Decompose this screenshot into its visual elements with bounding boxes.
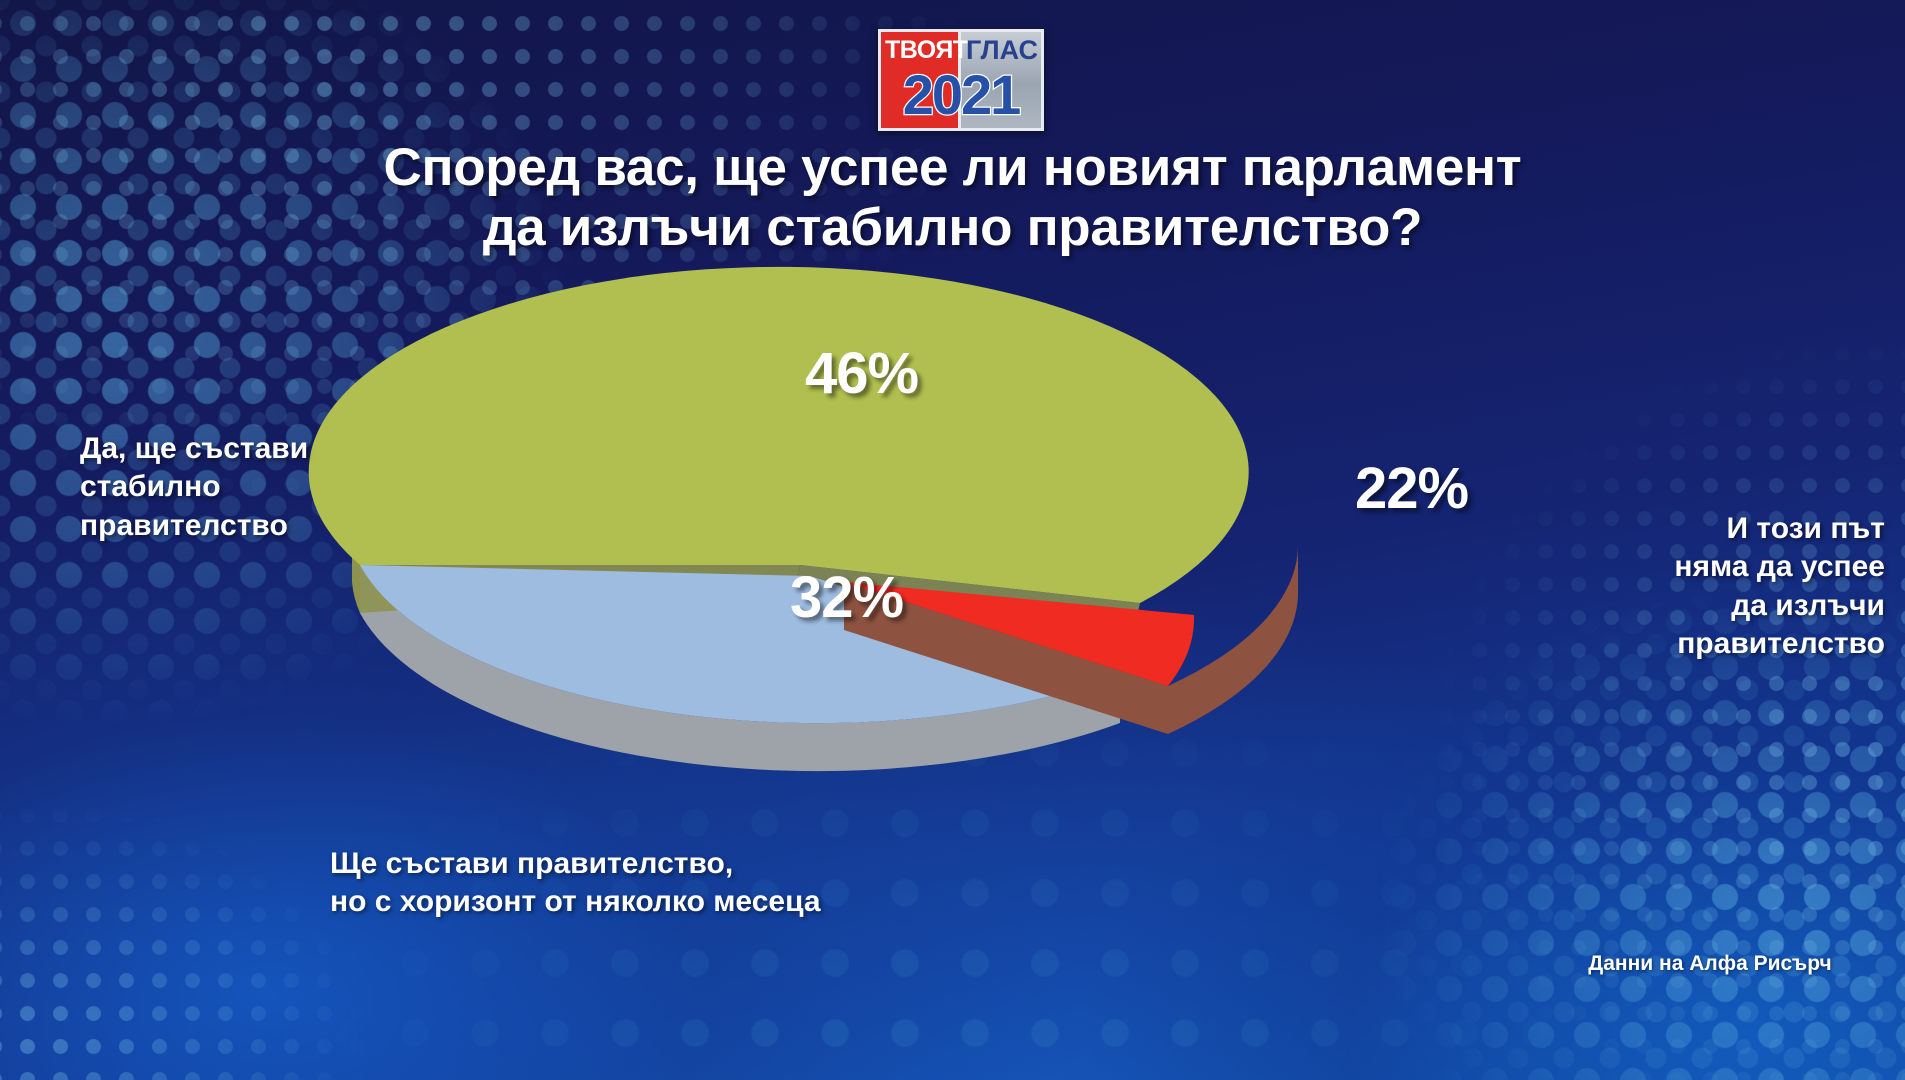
title-line-2: да излъчи стабилно правителство? [0,198,1905,258]
page-title: Според вас, ще успее ли новият парламент… [0,138,1905,259]
pie-category-label-left: Да, ще съставистабилноправителство [80,430,410,545]
infographic-canvas: ТВОЯТ ГЛАС 2021 Според вас, ще успее ли … [0,0,1905,1080]
title-line-1: Според вас, ще успее ли новият парламент [0,138,1905,198]
pie-category-label-bottom: Ще състави правителство,но с хоризонт от… [330,845,1090,922]
pie-label-percent-red: 22% [1355,455,1468,522]
data-source-credit: Данни на Алфа Рисърч [1540,952,1880,976]
pie-label-percent-blue: 32% [790,564,903,631]
brand-logo: ТВОЯТ ГЛАС 2021 [878,29,1044,131]
logo-word-glas: ГЛАС [965,37,1039,64]
logo-year: 2021 [878,67,1044,123]
pie-slice-green-top [309,267,1249,603]
pie-category-label-right: И този пътняма да успееда излъчиправител… [1540,510,1885,664]
logo-word-tvoyat: ТВОЯТ [885,38,959,63]
pie-label-percent-green: 46% [805,340,918,407]
